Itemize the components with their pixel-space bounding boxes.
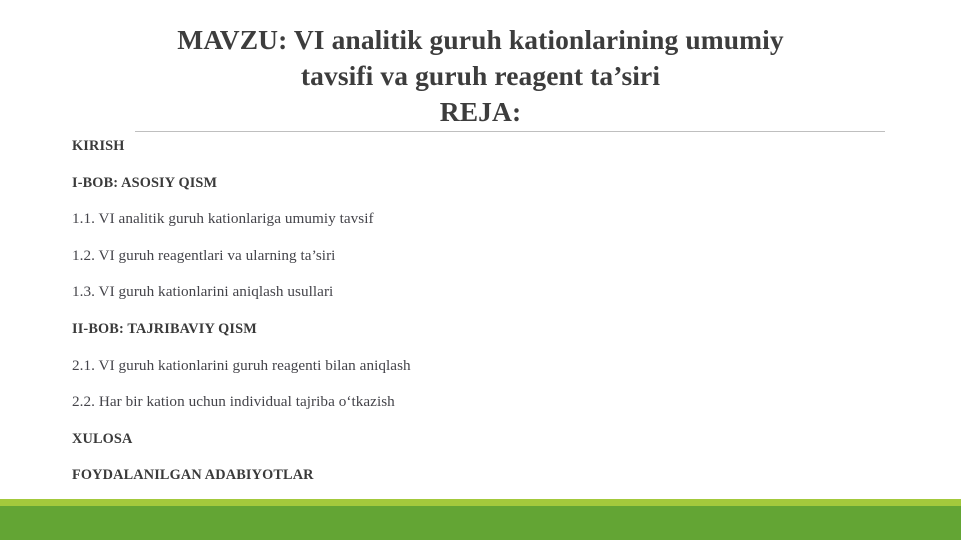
footer-accent-dark-band <box>0 506 961 540</box>
outline-item-1-2: 1.2. VI guruh reagentlari va ularning ta… <box>72 238 892 275</box>
slide-canvas: MAVZU: VI analitik guruh kationlarining … <box>0 0 961 540</box>
outline-item-kirish: KIRISH <box>72 128 892 165</box>
outline-item-xulosa: XULOSA <box>72 421 892 458</box>
outline-item-2-1: 2.1. VI guruh kationlarini guruh reagent… <box>72 348 892 385</box>
footer-accent-light-band <box>0 499 961 506</box>
title-line-1: MAVZU: VI analitik guruh kationlarining … <box>50 22 911 58</box>
outline-item-1-3: 1.3. VI guruh kationlarini aniqlash usul… <box>72 274 892 311</box>
outline-item-bob-1: I-BOB: ASOSIY QISM <box>72 165 892 202</box>
outline-item-2-2: 2.2. Har bir kation uchun individual taj… <box>72 384 892 421</box>
title-line-2: tavsifi va guruh reagent ta’siri <box>50 58 911 94</box>
slide-title: MAVZU: VI analitik guruh kationlarining … <box>50 22 911 130</box>
outline-item-adabiyotlar: FOYDALANILGAN ADABIYOTLAR <box>72 457 892 494</box>
title-line-3: REJA: <box>50 94 911 130</box>
outline-item-1-1: 1.1. VI analitik guruh kationlariga umum… <box>72 201 892 238</box>
outline-list: KIRISH I-BOB: ASOSIY QISM 1.1. VI analit… <box>72 128 892 494</box>
outline-item-bob-2: II-BOB: TAJRIBAVIY QISM <box>72 311 892 348</box>
